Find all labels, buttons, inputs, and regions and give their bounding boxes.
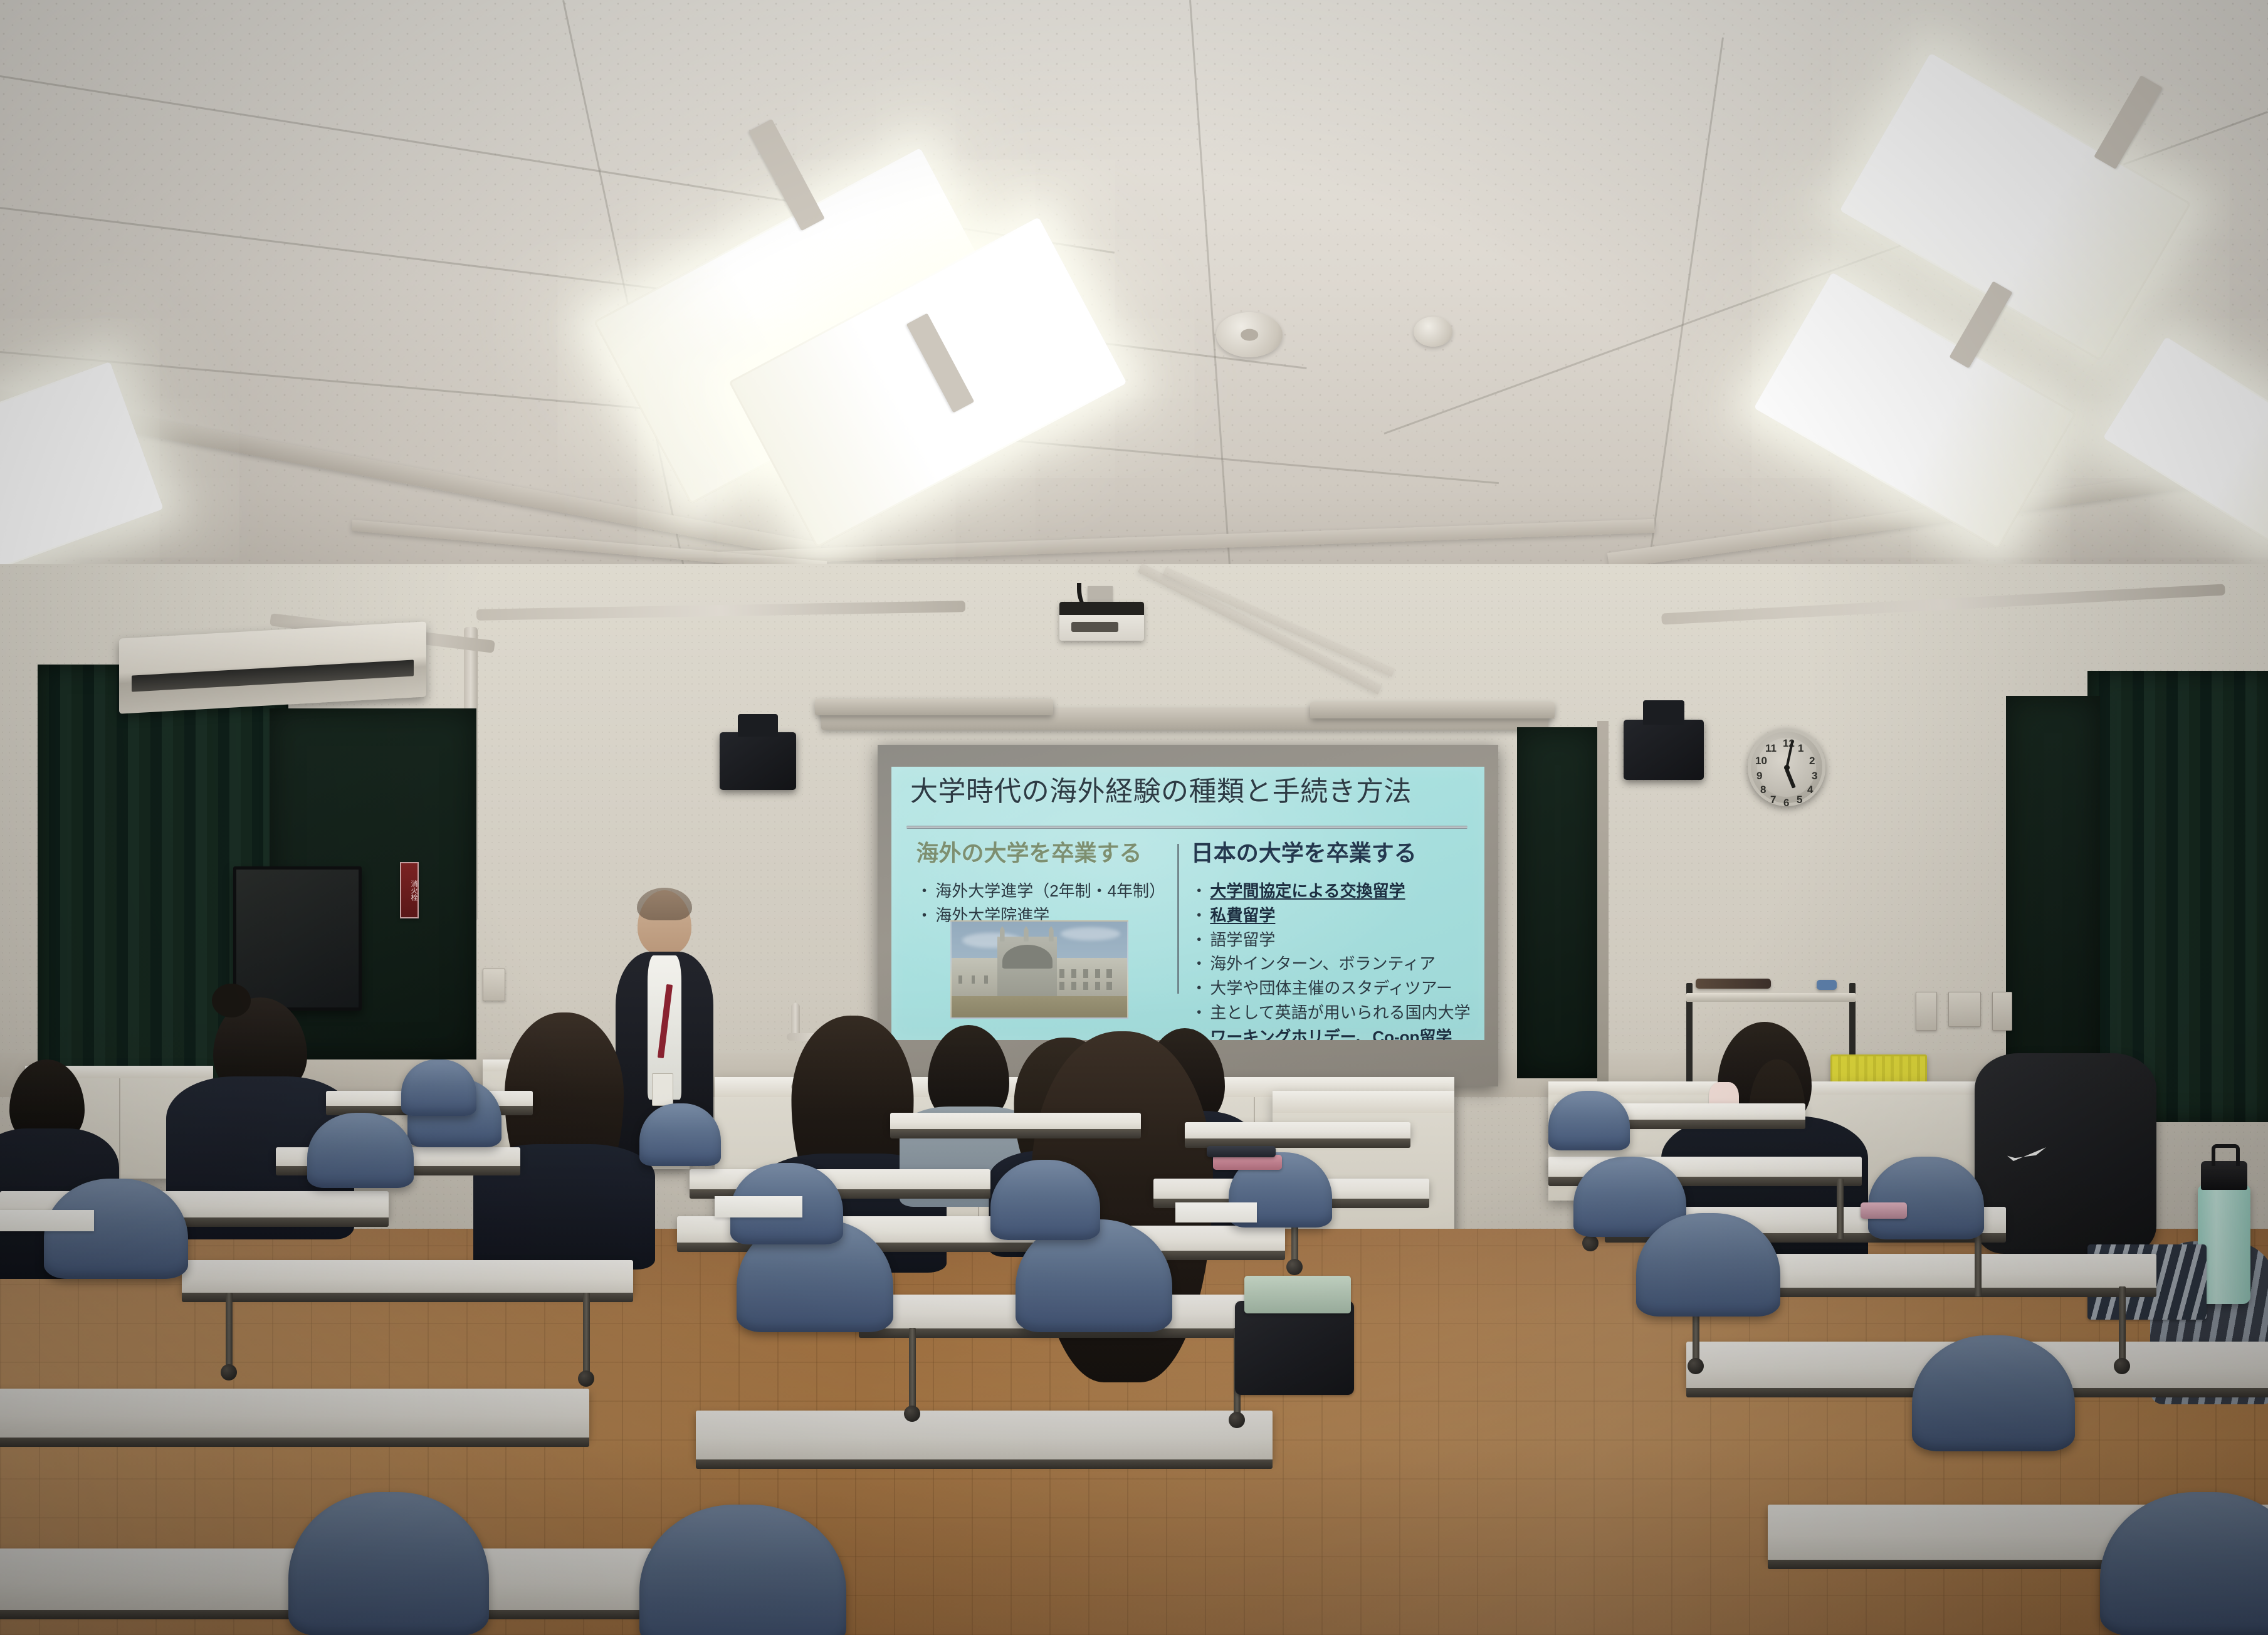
- desk-paper: [0, 1210, 94, 1231]
- clock-number: 7: [1770, 794, 1776, 806]
- chair-back[interactable]: [2100, 1492, 2268, 1635]
- clock-number: 9: [1756, 770, 1762, 782]
- bullet-text: 主として英語が用いられる国内大学: [1210, 1003, 1470, 1022]
- bullet-text: 私費留学: [1210, 906, 1275, 925]
- bullet-item: ・大学や団体主催のスタディツアー: [1191, 977, 1470, 1000]
- chair-back[interactable]: [1548, 1091, 1630, 1150]
- bullet-marker: ・: [916, 906, 933, 925]
- slide-column-divider: [1177, 844, 1179, 994]
- chair-back[interactable]: [307, 1113, 414, 1188]
- chair-12[interactable]: [1636, 1213, 1780, 1317]
- chair-3[interactable]: [307, 1113, 414, 1188]
- bullet-item: ・海外インターン、ボランティア: [1191, 952, 1470, 975]
- desk-row5-center: [696, 1411, 1273, 1461]
- bullet-item: ・大学間協定による交換留学: [1191, 880, 1470, 903]
- clock-number: 5: [1797, 794, 1802, 806]
- smoke-detector-icon: [1216, 312, 1283, 357]
- ceiling-projector: [1059, 602, 1144, 641]
- desk-caster: [1582, 1235, 1599, 1251]
- nike-swoosh-icon: [2007, 1147, 2046, 1161]
- chalkboard-right: [1517, 727, 1599, 1078]
- clock-number: 6: [1783, 797, 1789, 809]
- desk-top: [890, 1113, 1141, 1130]
- bullet-marker: ・: [1191, 1003, 1207, 1022]
- bullet-text: 大学間協定による交換留学: [1210, 881, 1405, 900]
- desk-leg: [583, 1293, 590, 1374]
- student-hair-bun: [212, 984, 251, 1017]
- desk-caster: [1286, 1259, 1303, 1275]
- desk-row5-left: [0, 1389, 589, 1439]
- right-column-bullets: ・大学間協定による交換留学 ・私費留学 ・語学留学 ・海外インターン、ボランティ…: [1191, 880, 1470, 1041]
- photo-window: [1106, 982, 1111, 990]
- chalkboard-right-frame: [1597, 721, 1609, 1081]
- photo-building-left-wing: [952, 958, 1000, 996]
- ac-vent: [132, 660, 414, 692]
- desk-top: [696, 1411, 1273, 1461]
- light-switch-panel: [1992, 992, 2012, 1031]
- photo-window: [1095, 969, 1100, 977]
- speaker-bracket: [738, 714, 777, 737]
- slide-right-column: 日本の大学を卒業する ・大学間協定による交換留学 ・私費留学 ・語学留学 ・海外…: [1191, 841, 1470, 1040]
- photo-window: [1071, 969, 1076, 977]
- desk-paper: [1175, 1202, 1257, 1222]
- photo-ground: [952, 994, 1127, 1017]
- photo-window: [984, 975, 987, 984]
- chair-back[interactable]: [288, 1492, 489, 1635]
- clock-number: 2: [1809, 755, 1815, 767]
- shelf-items: [1696, 979, 1771, 989]
- bottle-handle: [2212, 1144, 2240, 1165]
- desk-edge: [0, 1438, 589, 1447]
- bullet-marker: ・: [1191, 979, 1207, 997]
- chair-back[interactable]: [1868, 1157, 1984, 1239]
- smartphone[interactable]: [1861, 1202, 1907, 1219]
- photo-window: [1106, 969, 1111, 977]
- desk-caster: [904, 1406, 920, 1422]
- chalkboard-far-right: [2006, 696, 2100, 1103]
- smoke-detector-nub: [1241, 329, 1258, 341]
- ceiling: [0, 0, 2268, 614]
- pencil-case-dark: [1207, 1146, 1276, 1157]
- desk-row4-left: [182, 1260, 633, 1294]
- desk-caster: [221, 1364, 237, 1380]
- folded-towel: [1244, 1276, 1351, 1313]
- photo-window: [1083, 969, 1088, 977]
- clock-number: 8: [1760, 784, 1766, 796]
- desk-edge: [696, 1459, 1273, 1469]
- photo-window: [1095, 982, 1100, 990]
- photo-building-right-wing: [1054, 958, 1128, 996]
- desk-leg: [1837, 1179, 1844, 1239]
- bullet-item: ・語学留学: [1191, 928, 1470, 952]
- bullet-marker: ・: [916, 881, 933, 900]
- chair-8[interactable]: [990, 1160, 1100, 1240]
- bullet-text: 大学や団体主催のスタディツアー: [1210, 979, 1452, 997]
- light-switch-panel: [1948, 992, 1981, 1027]
- chair-16[interactable]: [2100, 1492, 2268, 1635]
- chair-18[interactable]: [401, 1059, 476, 1116]
- podium-top: [1273, 1091, 1454, 1113]
- chair-17[interactable]: [1548, 1091, 1630, 1150]
- desk-leg: [909, 1328, 916, 1409]
- slide-photo-chapel: [950, 920, 1128, 1019]
- bag-on-floor: [1235, 1301, 1354, 1395]
- projector-lens: [1071, 622, 1119, 632]
- desk-caster: [1688, 1358, 1704, 1374]
- wall-speaker-left: [720, 732, 796, 790]
- left-column-heading: 海外の大学を卒業する: [916, 841, 1166, 866]
- wall-clock: 12 1 2 3 4 5 6 7 8 9 10 11: [1748, 728, 1825, 806]
- bullet-marker: ・: [1191, 906, 1207, 925]
- clock-number: 10: [1755, 755, 1767, 767]
- chair-back[interactable]: [1636, 1213, 1780, 1317]
- projector-top-casing: [1059, 602, 1144, 615]
- desk-row1-right: [1185, 1122, 1410, 1140]
- overhead-light-rail-left: [815, 699, 1053, 715]
- shelf-item-blue: [1817, 980, 1837, 990]
- chair-back[interactable]: [990, 1160, 1100, 1240]
- clock-number: 3: [1812, 770, 1817, 782]
- bullet-marker: ・: [1191, 930, 1207, 949]
- bullet-item: ・私費留学: [1191, 904, 1470, 927]
- chair-back[interactable]: [1912, 1335, 2075, 1451]
- wall-speaker-right: [1624, 720, 1704, 780]
- chair-back[interactable]: [401, 1059, 476, 1116]
- chair-15[interactable]: [639, 1505, 846, 1635]
- desk-top: [1185, 1122, 1410, 1140]
- clock-face: 12 1 2 3 4 5 6 7 8 9 10 11: [1757, 738, 1816, 797]
- wall-monitor: [233, 866, 362, 1011]
- photo-window: [958, 975, 962, 984]
- shelf-plank: [1686, 993, 1856, 1002]
- counter-seam: [119, 1078, 120, 1179]
- bullet-item: ・主として英語が用いられる国内大学: [1191, 1001, 1470, 1024]
- photo-window: [1059, 969, 1064, 977]
- desk-row1-center: [890, 1113, 1141, 1130]
- photo-window: [1071, 982, 1076, 990]
- bullet-text: 海外大学進学（2年制・4年制）: [935, 881, 1165, 900]
- chair-11[interactable]: [1868, 1157, 1984, 1239]
- clock-number: 11: [1765, 742, 1777, 755]
- photo-window: [972, 975, 975, 984]
- clock-center-pin: [1784, 765, 1790, 770]
- desk-edge: [182, 1293, 633, 1302]
- clock-hour-hand: [1785, 769, 1796, 789]
- light-switch-panel: [1916, 992, 1937, 1031]
- photo-cloud: [1061, 927, 1120, 940]
- chair-4[interactable]: [639, 1103, 721, 1166]
- chair-14[interactable]: [288, 1492, 489, 1635]
- desk-caster: [578, 1370, 594, 1387]
- bullet-marker: ・: [1191, 881, 1207, 900]
- chair-back[interactable]: [639, 1103, 721, 1166]
- speaker-grille-icon: [1414, 317, 1452, 347]
- fire-hydrant-label: 消火栓: [410, 880, 417, 901]
- clock-number: 1: [1798, 742, 1803, 755]
- desk-leg: [2119, 1286, 2126, 1362]
- desk-leg: [226, 1293, 233, 1368]
- overhead-light-rail-right: [1310, 702, 1555, 718]
- speaker-bracket: [1643, 700, 1685, 724]
- slide-title: 大学時代の海外経験の種類と手続き方法: [910, 778, 1412, 806]
- clock-number: 4: [1807, 784, 1813, 796]
- right-column-heading: 日本の大学を卒業する: [1191, 841, 1470, 866]
- photo-window: [1059, 982, 1064, 990]
- desk-caster: [2114, 1358, 2130, 1374]
- wall-outlet-box: [483, 969, 505, 1001]
- desk-caster: [1229, 1412, 1245, 1428]
- presentation-slide: 大学時代の海外経験の種類と手続き方法 海外の大学を卒業する ・海外大学進学（2年…: [891, 767, 1484, 1040]
- presenter-hair: [637, 888, 692, 920]
- desk-top: [0, 1389, 589, 1439]
- photo-window: [1083, 982, 1088, 990]
- chair-back[interactable]: [639, 1505, 846, 1635]
- desk-edge: [890, 1129, 1141, 1138]
- bullet-item: ・海外大学進学（2年制・4年制）: [916, 880, 1166, 903]
- photo-chapel-body: [997, 937, 1057, 996]
- desk-paper: [715, 1196, 802, 1217]
- desk-leg: [1975, 1234, 1982, 1296]
- bullet-text: 語学留学: [1210, 930, 1275, 949]
- classroom-scene: 消火栓 大学時代の海外経験の種類と手続き方法 海外の大学を卒業する ・海外大学進…: [0, 0, 2268, 1635]
- fire-hydrant-sign: 消火栓: [400, 862, 419, 918]
- bullet-text: 海外インターン、ボランティア: [1210, 954, 1436, 973]
- slide-title-divider: [906, 826, 1467, 829]
- desk-top: [182, 1260, 633, 1294]
- bullet-marker: ・: [1191, 954, 1207, 973]
- slide-left-column: 海外の大学を卒業する ・海外大学進学（2年制・4年制） ・海外大学院進学: [916, 841, 1166, 928]
- chair-13[interactable]: [1912, 1335, 2075, 1451]
